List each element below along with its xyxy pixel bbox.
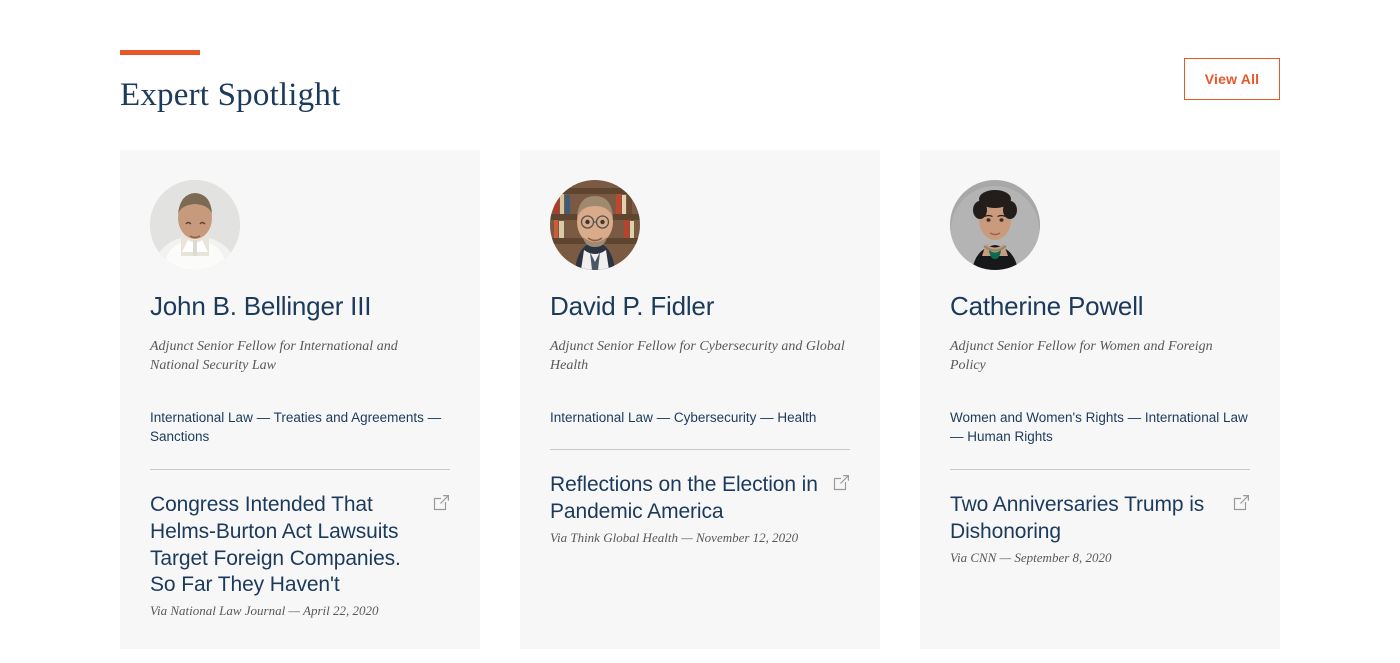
expert-topics[interactable]: Women and Women's Rights — International… [950,408,1250,447]
expert-topics[interactable]: International Law — Treaties and Agreeme… [150,408,450,447]
article-link[interactable]: Congress Intended That Helms-Burton Act … [150,492,450,620]
external-link-icon[interactable] [1233,494,1250,511]
expert-topics[interactable]: International Law — Cybersecurity — Heal… [550,408,850,428]
article-source: Via CNN — September 8, 2020 [950,550,1218,566]
external-link-icon[interactable] [433,494,450,511]
expert-name: David P. Fidler [550,292,850,322]
expert-name: Catherine Powell [950,292,1250,322]
article-title: Two Anniversaries Trump is Dishonoring [950,492,1218,546]
accent-bar [120,50,200,55]
expert-card[interactable]: David P. Fidler Adjunct Senior Fellow fo… [520,150,880,649]
expert-role: Adjunct Senior Fellow for Women and Fore… [950,338,1250,376]
expert-card[interactable]: John B. Bellinger III Adjunct Senior Fel… [120,150,480,649]
article-title: Congress Intended That Helms-Burton Act … [150,492,418,600]
divider [550,449,850,450]
avatar [950,180,1040,270]
article-source: Via National Law Journal — April 22, 202… [150,603,418,619]
divider [150,469,450,470]
section-header: Expert Spotlight View All [120,50,1280,130]
expert-name: John B. Bellinger III [150,292,450,322]
page-title: Expert Spotlight [120,77,1280,113]
article-link[interactable]: Reflections on the Election in Pandemic … [550,472,850,546]
avatar [550,180,640,270]
avatar [150,180,240,270]
expert-card[interactable]: Catherine Powell Adjunct Senior Fellow f… [920,150,1280,649]
expert-role: Adjunct Senior Fellow for International … [150,338,450,376]
article-source: Via Think Global Health — November 12, 2… [550,530,818,546]
expert-card-list: John B. Bellinger III Adjunct Senior Fel… [120,150,1280,649]
view-all-button[interactable]: View All [1184,58,1280,100]
external-link-icon[interactable] [833,474,850,491]
article-title: Reflections on the Election in Pandemic … [550,472,818,526]
article-link[interactable]: Two Anniversaries Trump is Dishonoring V… [950,492,1250,566]
expert-spotlight-page: Expert Spotlight View All [0,0,1400,663]
expert-role: Adjunct Senior Fellow for Cybersecurity … [550,338,850,376]
divider [950,469,1250,470]
